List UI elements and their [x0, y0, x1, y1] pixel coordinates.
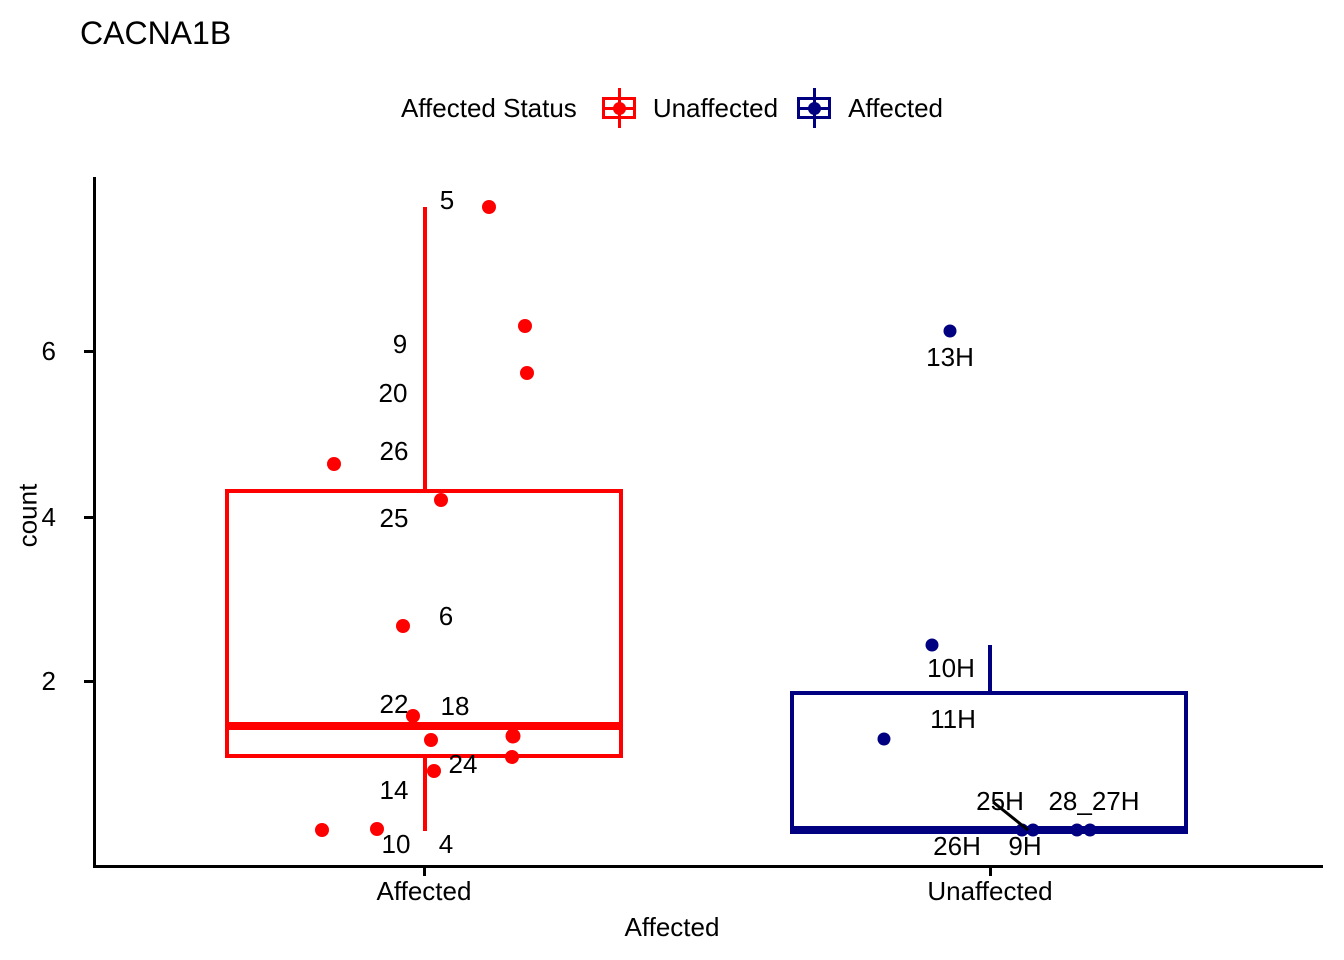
box-red [225, 489, 623, 758]
data-point[interactable] [1084, 824, 1097, 837]
y-axis-line [93, 177, 96, 867]
point-label-5: 5 [440, 187, 454, 213]
point-label-6: 6 [439, 603, 453, 629]
data-point[interactable] [1071, 824, 1084, 837]
point-label-26: 26 [380, 438, 409, 464]
data-point[interactable] [518, 319, 532, 333]
data-point[interactable] [944, 325, 957, 338]
point-label-14: 14 [380, 777, 409, 803]
data-point[interactable] [520, 366, 534, 380]
chart-root: CACNA1B Affected Status Unaffected Affec… [0, 0, 1344, 960]
x-tick-mark-unaffected [989, 866, 992, 876]
data-point[interactable] [506, 729, 521, 744]
x-axis-title: Affected [0, 912, 1344, 943]
point-label-18: 18 [441, 693, 470, 719]
data-point[interactable] [434, 493, 448, 507]
y-tick-label-2: 2 [0, 668, 56, 694]
whisker-lower-red [423, 756, 427, 831]
point-label-26H: 26H [933, 833, 981, 859]
data-point[interactable] [396, 619, 410, 633]
data-point[interactable] [327, 457, 341, 471]
point-label-11H: 11H [930, 706, 976, 732]
data-point[interactable] [878, 733, 891, 746]
point-label-4: 4 [439, 831, 453, 857]
whisker-upper-navy [988, 645, 992, 693]
data-point[interactable] [926, 639, 939, 652]
point-label-9: 9 [393, 331, 407, 357]
y-axis-title: count [13, 456, 44, 576]
median-line-red [225, 722, 623, 730]
x-axis-line [93, 865, 1323, 868]
point-label-22: 22 [380, 691, 409, 717]
point-label-10: 10 [382, 831, 411, 857]
point-label-10H: 10H [927, 655, 975, 681]
x-tick-mark-affected [423, 866, 426, 876]
y-tick-mark-2 [84, 680, 94, 683]
point-label-13H: 13H [926, 344, 974, 370]
x-tick-label-affected: Affected [377, 876, 472, 906]
point-label-28-27H: 28_27H [1048, 788, 1139, 814]
data-point[interactable] [505, 750, 519, 764]
point-label-25: 25 [380, 505, 409, 531]
point-label-20: 20 [379, 380, 408, 406]
point-label-9H: 9H [1008, 833, 1041, 859]
data-point[interactable] [482, 200, 496, 214]
point-label-24: 24 [449, 751, 478, 777]
y-tick-label-6: 6 [0, 338, 56, 364]
y-tick-mark-6 [84, 350, 94, 353]
y-tick-mark-4 [84, 516, 94, 519]
point-label-25H: 25H [976, 788, 1024, 814]
plot-panel: 2 4 6 Affected Unaffected Affected count [0, 0, 1344, 960]
whisker-upper-red [423, 207, 427, 492]
data-point[interactable] [424, 733, 438, 747]
x-tick-label-unaffected: Unaffected [927, 876, 1052, 906]
data-point[interactable] [315, 823, 329, 837]
data-point[interactable] [427, 764, 441, 778]
